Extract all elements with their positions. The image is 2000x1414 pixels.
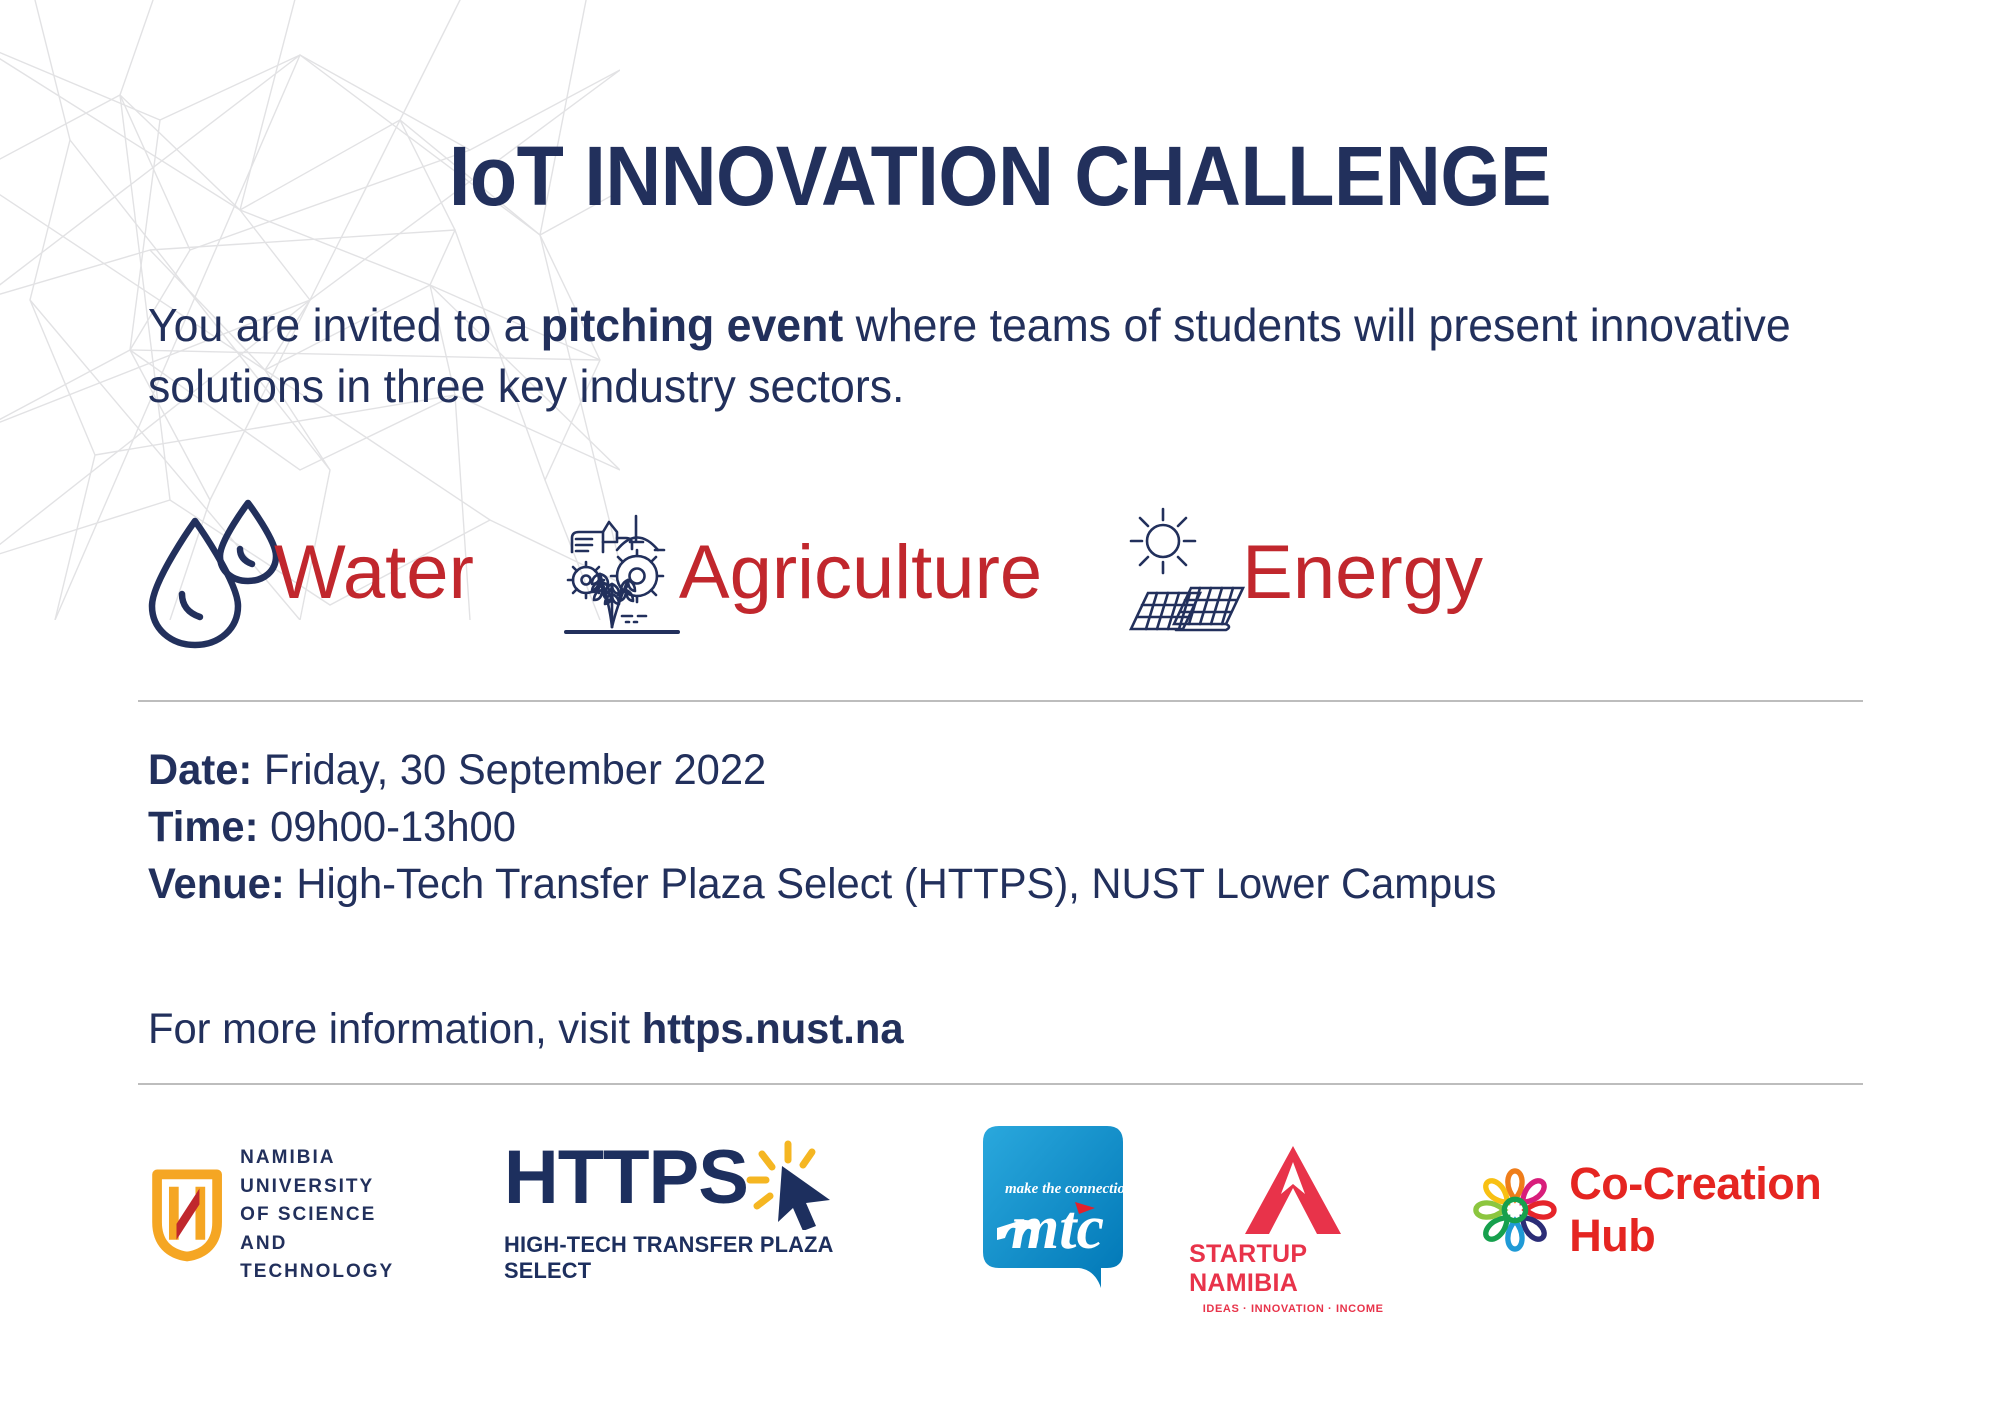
website-link[interactable]: https.nust.na	[642, 1005, 904, 1053]
sun-solar-panel-icon	[1108, 505, 1248, 640]
page-title: IoT INNOVATION CHALLENGE	[80, 128, 1920, 225]
nust-line-3: OF SCIENCE AND	[240, 1201, 408, 1258]
more-information-line: For more information, visit https.nust.n…	[148, 1005, 904, 1054]
sector-label-agriculture: Agriculture	[679, 535, 1042, 611]
cchub-flower-icon	[1467, 1156, 1563, 1264]
time-label: Time:	[148, 803, 258, 851]
intro-text-before: You are invited to a	[148, 299, 541, 351]
cchub-wordmark: Co-Creation Hub	[1569, 1158, 1880, 1262]
tractor-wheat-icon	[560, 508, 685, 638]
co-creation-hub-logo: Co-Creation Hub	[1467, 1156, 1880, 1264]
startup-namibia-tagline: IDEAS · INNOVATION · INCOME	[1203, 1303, 1384, 1315]
startup-namibia-logo: STARTUP NAMIBIA IDEAS · INNOVATION · INC…	[1189, 1144, 1397, 1315]
sector-item-agriculture: Agriculture	[560, 485, 1042, 660]
detail-row-time: Time: 09h00-13h00	[148, 799, 1496, 856]
sector-row: Water	[140, 485, 1900, 660]
nust-line-2: UNIVERSITY	[240, 1173, 408, 1202]
startup-namibia-wordmark: STARTUP NAMIBIA	[1189, 1240, 1397, 1298]
intro-text-bold: pitching event	[541, 299, 843, 351]
https-subtitle: HIGH-TECH TRANSFER PLAZA SELECT	[504, 1232, 880, 1284]
divider-bottom	[138, 1083, 1863, 1085]
mtc-wordmark: mtc	[1011, 1194, 1104, 1262]
water-drops-icon	[140, 495, 280, 650]
date-value: Friday, 30 September 2022	[252, 746, 766, 794]
sector-label-energy: Energy	[1242, 535, 1483, 611]
venue-value: High-Tech Transfer Plaza Select (HTTPS),…	[285, 860, 1497, 908]
nust-logo: NAMIBIA UNIVERSITY OF SCIENCE AND TECHNO…	[150, 1144, 408, 1287]
intro-paragraph: You are invited to a pitching event wher…	[148, 295, 1826, 416]
mtc-logo: make the connection mtc	[983, 1120, 1123, 1290]
sector-item-water: Water	[140, 485, 474, 660]
more-info-prefix: For more information, visit	[148, 1005, 642, 1053]
sector-item-energy: Energy	[1108, 485, 1483, 660]
https-wordmark-row: HTTPS	[504, 1142, 834, 1230]
nust-shield-icon	[150, 1163, 224, 1267]
nust-wordmark: NAMIBIA UNIVERSITY OF SCIENCE AND TECHNO…	[240, 1144, 408, 1287]
startup-namibia-chevron-icon	[1233, 1144, 1353, 1236]
date-label: Date:	[148, 746, 252, 794]
event-details: Date: Friday, 30 September 2022 Time: 09…	[148, 742, 1496, 914]
divider-top	[138, 700, 1863, 702]
nust-line-1: NAMIBIA	[240, 1144, 408, 1173]
partner-logo-strip: NAMIBIA UNIVERSITY OF SCIENCE AND TECHNO…	[150, 1120, 1880, 1320]
venue-label: Venue:	[148, 860, 285, 908]
https-wordmark: HTTPS	[504, 1142, 748, 1215]
mtc-speech-bubble-icon: make the connection mtc	[983, 1120, 1123, 1290]
time-value: 09h00-13h00	[258, 803, 515, 851]
https-logo: HTTPS HIGH-TECH TRANSFER PLAZA SELECT	[504, 1142, 891, 1284]
detail-row-date: Date: Friday, 30 September 2022	[148, 742, 1496, 799]
cursor-click-icon	[742, 1138, 834, 1230]
nust-line-4: TECHNOLOGY	[240, 1258, 408, 1287]
sector-label-water: Water	[274, 535, 474, 611]
detail-row-venue: Venue: High-Tech Transfer Plaza Select (…	[148, 856, 1496, 913]
